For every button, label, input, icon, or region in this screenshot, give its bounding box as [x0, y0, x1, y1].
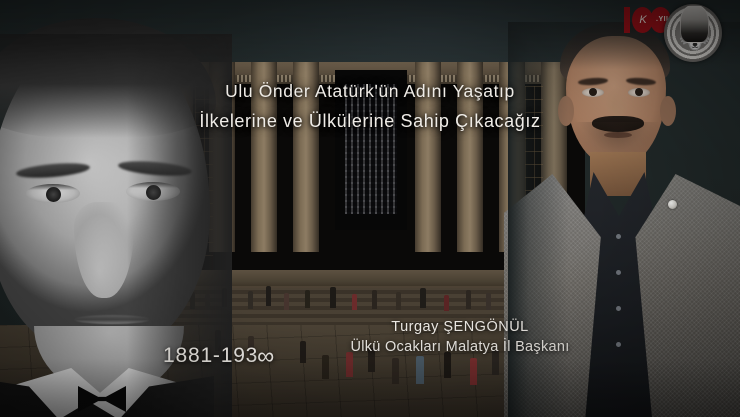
visitor [322, 355, 329, 379]
visitor [248, 291, 253, 309]
visitor [466, 290, 471, 309]
iris [46, 187, 61, 202]
visitor [330, 287, 336, 308]
logo-digit-one: 1 [624, 7, 630, 33]
visitor [486, 293, 491, 310]
headline-text: Ulu Önder Atatürk'ün Adını Yaşatıp İlkel… [0, 76, 740, 136]
iris [146, 185, 161, 200]
infinity-icon: ∞ [257, 346, 275, 367]
shirt-button [616, 234, 621, 239]
shirt-button [616, 270, 621, 275]
ataturk-mouth [74, 315, 150, 324]
person-title: Ülkü Ocakları Malatya İl Başkanı [300, 337, 620, 358]
shirt-button [616, 306, 621, 311]
headline-line-1: Ulu Önder Atatürk'ün Adını Yaşatıp [0, 76, 740, 106]
visitor [470, 358, 477, 385]
visitor [266, 286, 271, 306]
ataturk-eye-left [26, 184, 80, 203]
person-name: Turgay ŞENGÖNÜL [300, 318, 620, 337]
headline-line-2: İlkelerine ve Ülkülerine Sahip Çıkacağız [0, 106, 740, 136]
visitor [305, 290, 310, 308]
visitor [416, 356, 424, 384]
visitor [392, 358, 399, 384]
visitor [352, 294, 357, 310]
ataturk-signature-glyph: K [636, 14, 650, 27]
ataturk-portrait-icon [680, 5, 709, 43]
visitor [396, 292, 401, 310]
years-range: 1881-193 [163, 344, 258, 368]
poster-image: 1 K .YIL 🐺 Ulu Önder Atatürk'ün Adını Ya… [0, 0, 740, 417]
visitor [420, 288, 426, 308]
visitor [444, 295, 449, 311]
ulku-ocaklari-emblem: 🐺 [664, 4, 722, 62]
lapel-pin [668, 200, 677, 209]
credit-block: Turgay ŞENGÖNÜL Ülkü Ocakları Malatya İl… [300, 318, 620, 358]
visitor [284, 293, 289, 310]
ataturk-eye-right [126, 182, 180, 201]
visitor [372, 290, 377, 309]
lifespan-years: 1881-193 ∞ [163, 344, 275, 368]
